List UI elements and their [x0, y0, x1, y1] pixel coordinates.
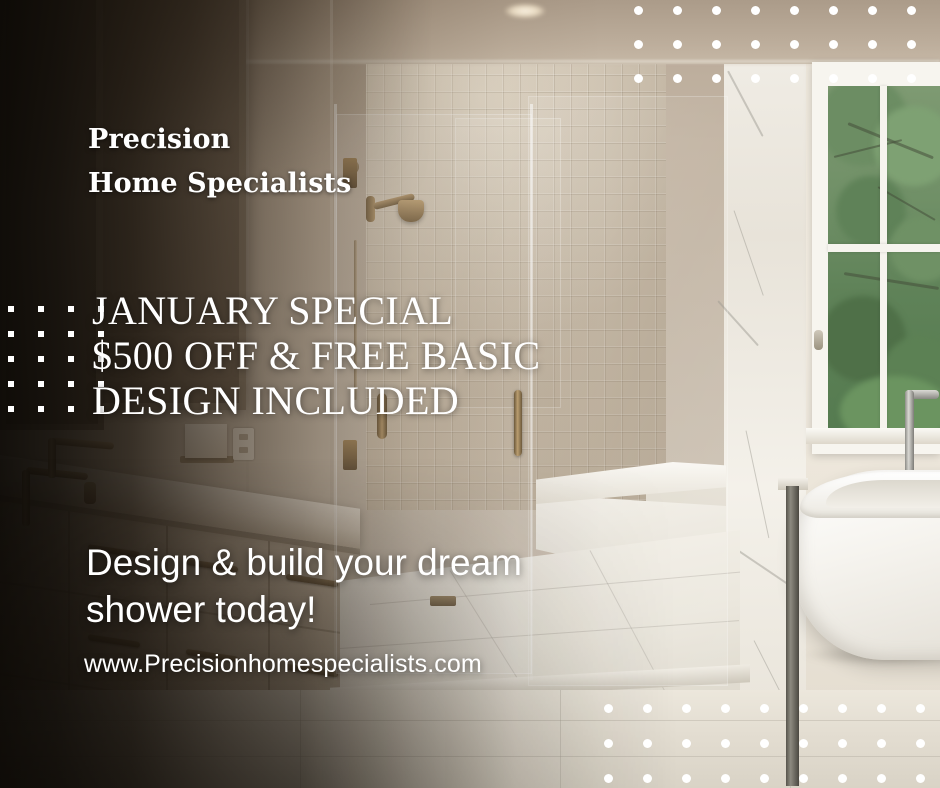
decorative-dot [68, 381, 74, 387]
promo-headline: JANUARY SPECIAL $500 OFF & FREE BASIC DE… [92, 288, 652, 424]
decorative-dot [838, 739, 847, 748]
decorative-dot [721, 739, 730, 748]
decorative-dot [643, 704, 652, 713]
decorative-dot [68, 406, 74, 412]
decorative-dot [868, 74, 877, 83]
decorative-dot [38, 381, 44, 387]
decorative-dot [712, 40, 721, 49]
decorative-dot [682, 774, 691, 783]
decorative-dot [38, 406, 44, 412]
decorative-dot [673, 6, 682, 15]
decorative-dot [68, 306, 74, 312]
decorative-dot [712, 74, 721, 83]
dot-pattern-top-right [634, 6, 940, 83]
tagline-line2: shower today! [86, 587, 606, 634]
decorative-dot [760, 704, 769, 713]
decorative-dot [712, 6, 721, 15]
decorative-dot [829, 6, 838, 15]
website-url[interactable]: www.Precisionhomespecialists.com [84, 650, 644, 679]
decorative-dot [8, 356, 14, 362]
decorative-dot [634, 74, 643, 83]
decorative-dot [634, 40, 643, 49]
promo-tagline: Design & build your dream shower today! [86, 540, 606, 634]
decorative-dot [604, 774, 613, 783]
decorative-dot [916, 704, 925, 713]
decorative-dot [790, 40, 799, 49]
decorative-dot [682, 739, 691, 748]
decorative-dot [682, 704, 691, 713]
decorative-dot [829, 74, 838, 83]
decorative-dot [673, 74, 682, 83]
decorative-dot [907, 6, 916, 15]
decorative-dot [751, 6, 760, 15]
decorative-dot [760, 739, 769, 748]
dot-pattern-bottom-right [604, 704, 940, 783]
decorative-dot [907, 40, 916, 49]
decorative-dot [799, 739, 808, 748]
decorative-dot [799, 774, 808, 783]
dot-pattern-left [8, 306, 104, 412]
decorative-dot [8, 306, 14, 312]
decorative-dot [68, 331, 74, 337]
decorative-dot [877, 704, 886, 713]
decorative-dot [604, 704, 613, 713]
decorative-dot [760, 774, 769, 783]
brand-logo: Precision Home Specialists [88, 118, 508, 205]
decorative-dot [721, 704, 730, 713]
decorative-dot [8, 381, 14, 387]
decorative-dot [829, 40, 838, 49]
brand-name-line1: Precision [88, 124, 230, 155]
decorative-dot [916, 774, 925, 783]
headline-line3: DESIGN INCLUDED [92, 378, 652, 423]
decorative-dot [838, 774, 847, 783]
decorative-dot [643, 774, 652, 783]
brand-name-line2: Home Specialists [88, 162, 508, 206]
decorative-dot [643, 739, 652, 748]
decorative-dot [38, 356, 44, 362]
tagline-line1: Design & build your dream [86, 540, 606, 587]
decorative-dot [751, 74, 760, 83]
decorative-dot [877, 739, 886, 748]
decorative-dot [38, 306, 44, 312]
decorative-dot [916, 739, 925, 748]
decorative-dot [751, 40, 760, 49]
decorative-dot [868, 40, 877, 49]
decorative-dot [790, 74, 799, 83]
decorative-dot [38, 331, 44, 337]
decorative-dot [799, 704, 808, 713]
decorative-dot [868, 6, 877, 15]
decorative-dot [673, 40, 682, 49]
decorative-dot [721, 774, 730, 783]
decorative-dot [634, 6, 643, 15]
decorative-dot [8, 406, 14, 412]
decorative-dot [604, 739, 613, 748]
decorative-dot [877, 774, 886, 783]
advertisement-canvas: Precision Home Specialists JANUARY SPECI… [0, 0, 940, 788]
decorative-dot [790, 6, 799, 15]
decorative-dot [838, 704, 847, 713]
decorative-dot [68, 356, 74, 362]
decorative-dot [8, 331, 14, 337]
headline-line1: JANUARY SPECIAL [92, 288, 652, 333]
headline-line2: $500 OFF & FREE BASIC [92, 333, 652, 378]
decorative-dot [907, 74, 916, 83]
